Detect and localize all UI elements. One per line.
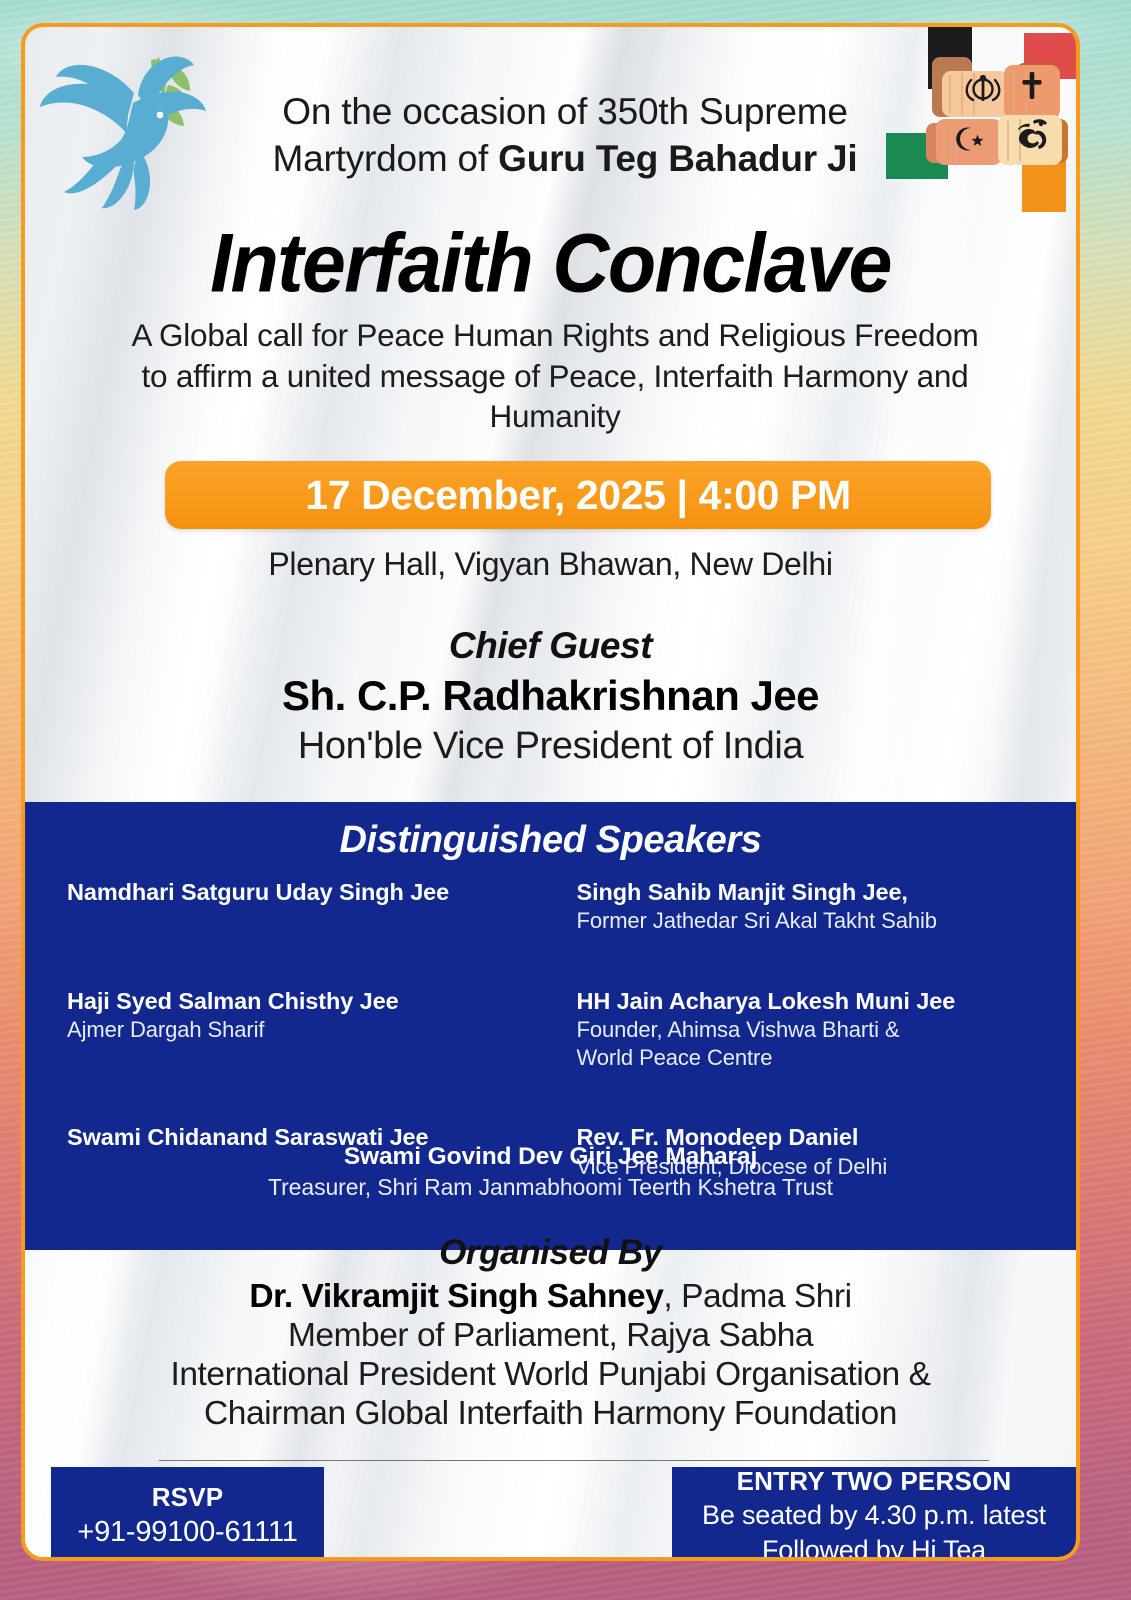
entry-hi-tea-note: Followed by Hi Tea [672,1533,1076,1561]
rsvp-box[interactable]: RSVP +91-99100-61111 [51,1467,324,1561]
occasion-text: On the occasion of 350th Supreme Martyrd… [205,89,925,182]
speaker-entry-featured: Swami Govind Dev Giri Jee Maharaj Treasu… [21,1142,1080,1201]
speaker-subtitle: Ajmer Dargah Sharif [67,1016,541,1044]
organiser-role-line-2: International President World Punjabi Or… [85,1355,1016,1395]
rsvp-phone[interactable]: +91-99100-61111 [51,1514,324,1551]
rsvp-label: RSVP [51,1481,324,1515]
speaker-name: Swami Govind Dev Giri Jee Maharaj [21,1142,1080,1173]
entry-info-box: ENTRY TWO PERSON Be seated by 4.30 p.m. … [672,1467,1076,1561]
chief-guest-designation: Hon'ble Vice President of India [25,725,1076,768]
speaker-entry: Singh Sahib Manjit Singh Jee, Former Jat… [551,878,1035,943]
occasion-line-2-prefix: Martyrdom of [272,138,498,179]
venue-text: Plenary Hall, Vigyan Bhawan, New Delhi [25,546,1076,583]
speakers-row: Haji Syed Salman Chisthy Jee Ajmer Darga… [67,987,1034,1079]
speaker-name: Singh Sahib Manjit Singh Jee, [577,878,1025,907]
invitation-card: On the occasion of 350th Supreme Martyrd… [21,23,1080,1561]
footer-divider [159,1460,989,1461]
speaker-subtitle: Founder, Ahimsa Vishwa Bharti & World Pe… [577,1016,1025,1071]
tagline: A Global call for Peace Human Rights and… [120,315,990,437]
poster-background: On the occasion of 350th Supreme Martyrd… [0,0,1131,1600]
organiser-role-line-3: Chairman Global Interfaith Harmony Found… [85,1394,1016,1434]
organised-by-label: Organised By [25,1233,1076,1273]
speakers-heading: Distinguished Speakers [21,819,1080,862]
speaker-entry: HH Jain Acharya Lokesh Muni Jee Founder,… [551,987,1035,1079]
chief-guest-label: Chief Guest [25,625,1076,667]
entry-label: ENTRY TWO PERSON [672,1465,1076,1499]
dove-with-olive-branch-icon [38,45,228,220]
page-title: Interfaith Conclave [25,214,1076,312]
organiser-name-line: Dr. Vikramjit Singh Sahney, Padma Shri [85,1277,1016,1317]
speaker-name: Haji Syed Salman Chisthy Jee [67,987,541,1016]
occasion-line-2: Martyrdom of Guru Teg Bahadur Ji [205,136,925,183]
occasion-line-1: On the occasion of 350th Supreme [205,89,925,136]
speaker-name: Namdhari Satguru Uday Singh Jee [67,878,541,907]
organiser-honour: , Padma Shri [663,1278,851,1315]
speaker-entry: Namdhari Satguru Uday Singh Jee [67,878,551,943]
speaker-subtitle: Former Jathedar Sri Akal Takht Sahib [577,907,1025,935]
guru-name: Guru Teg Bahadur Ji [498,138,857,179]
speaker-name: HH Jain Acharya Lokesh Muni Jee [577,987,1025,1016]
chief-guest-name: Sh. C.P. Radhakrishnan Jee [25,672,1076,720]
date-time-text: 17 December, 2025 | 4:00 PM [305,472,850,519]
speaker-entry: Haji Syed Salman Chisthy Jee Ajmer Darga… [67,987,551,1079]
entry-seating-note: Be seated by 4.30 p.m. latest [672,1498,1076,1533]
organiser-name: Dr. Vikramjit Singh Sahney [249,1278,663,1315]
speakers-row: Namdhari Satguru Uday Singh Jee Singh Sa… [67,878,1034,943]
distinguished-speakers-panel: Distinguished Speakers Namdhari Satguru … [21,802,1080,1250]
organiser-role-line-1: Member of Parliament, Rajya Sabha [85,1316,1016,1356]
date-time-badge: 17 December, 2025 | 4:00 PM [165,461,991,529]
speaker-subtitle: Treasurer, Shri Ram Janmabhoomi Teerth K… [21,1173,1080,1202]
